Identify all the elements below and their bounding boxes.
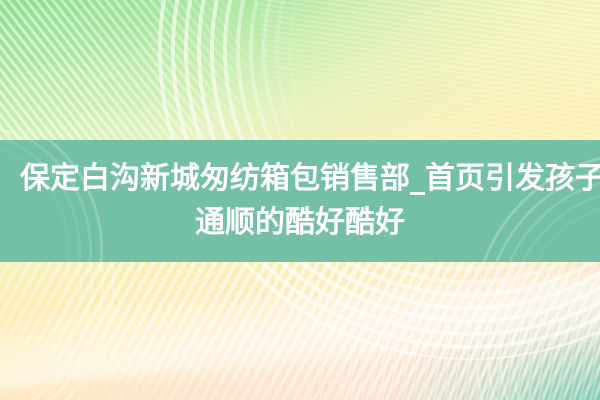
page-title-line-1: 保定白沟新城匆纺箱包销售部_首页引发孩子们对 (20, 157, 580, 201)
promo-banner: 保定白沟新城匆纺箱包销售部_首页引发孩子们对 通顺的酷好酷好 (0, 0, 600, 400)
page-title-line-2: 通顺的酷好酷好 (20, 201, 580, 245)
title-band: 保定白沟新城匆纺箱包销售部_首页引发孩子们对 通顺的酷好酷好 (0, 140, 600, 262)
page-title: 保定白沟新城匆纺箱包销售部_首页引发孩子们对 通顺的酷好酷好 (20, 157, 580, 245)
